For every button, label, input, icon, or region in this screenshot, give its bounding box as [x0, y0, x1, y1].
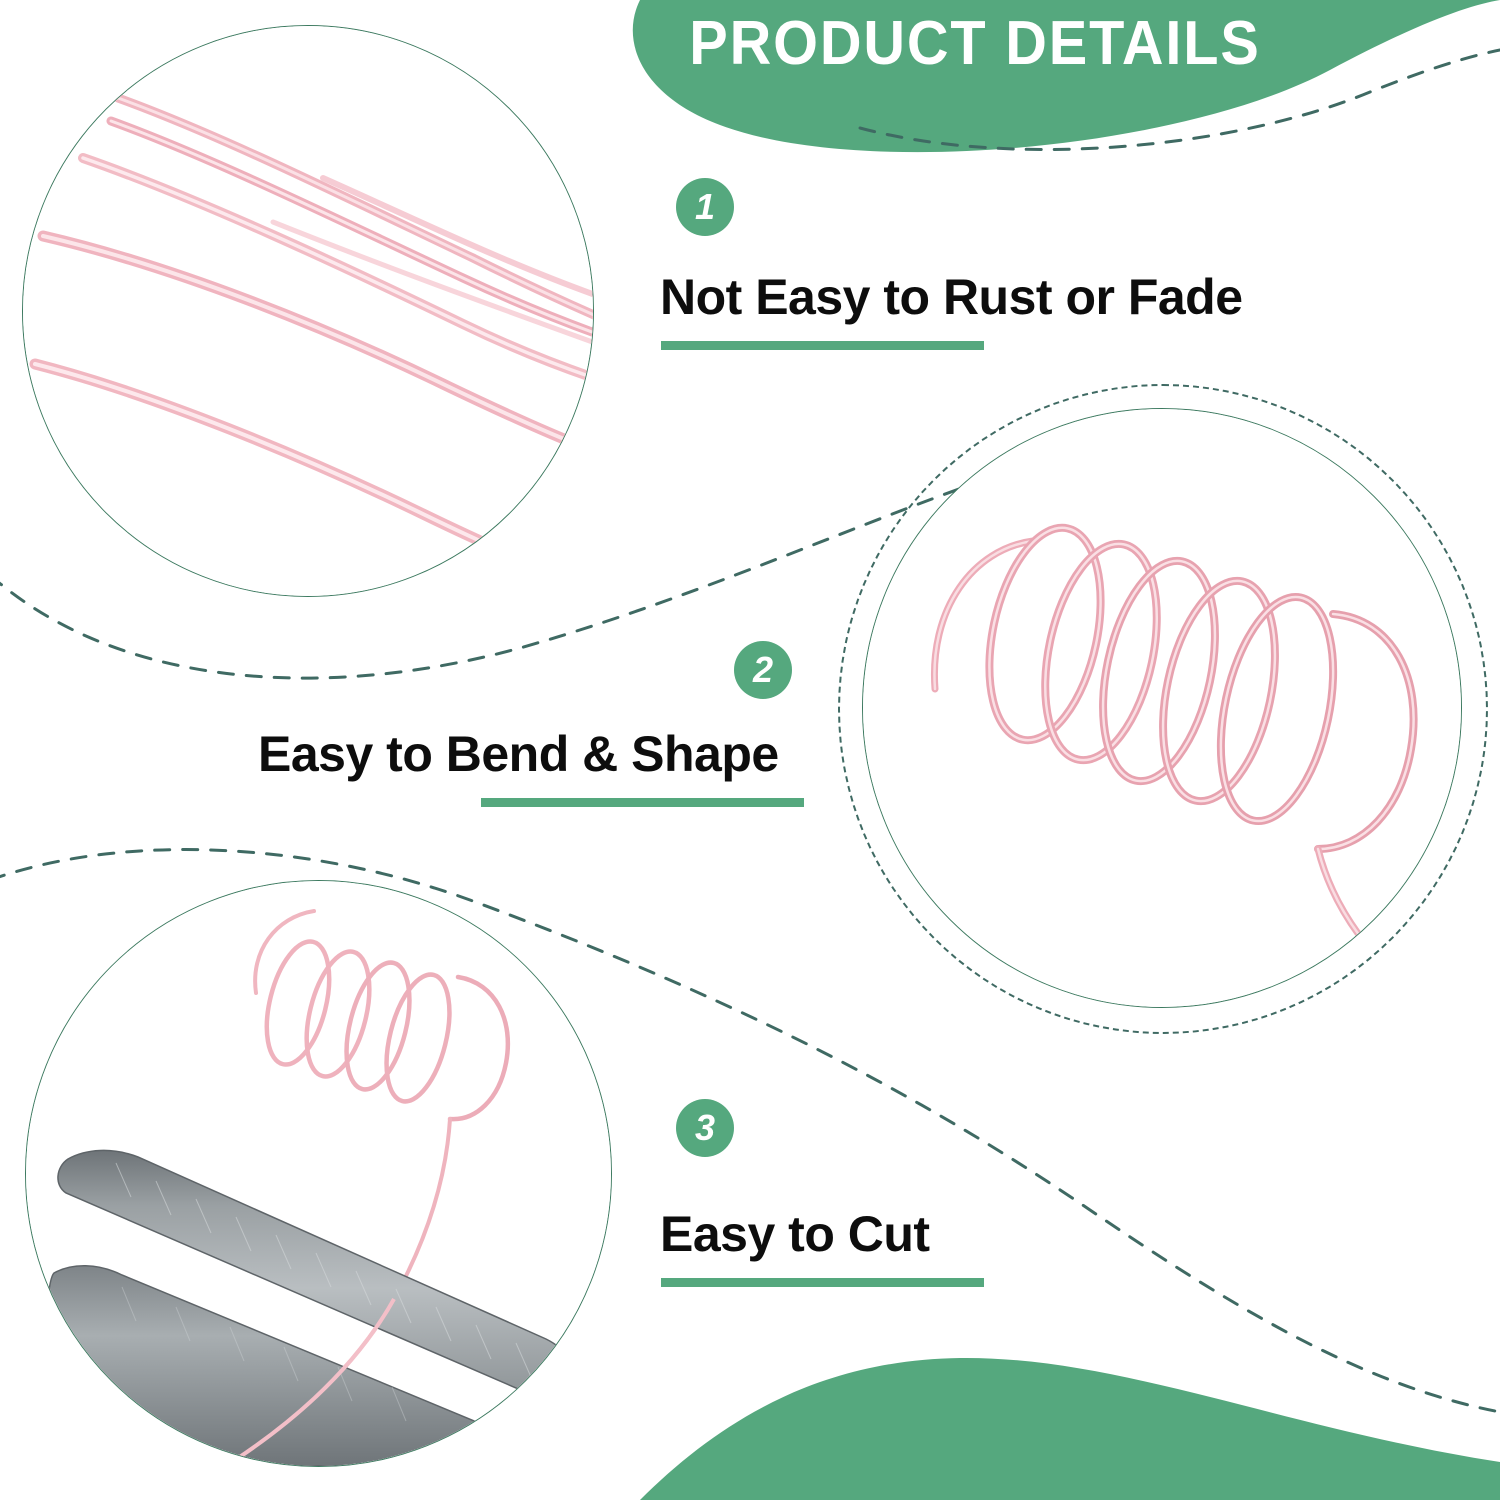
product-details-infographic: PRODUCT DETAILS [0, 0, 1500, 1500]
feature-badge-1: 1 [676, 178, 734, 236]
page-title: PRODUCT DETAILS [668, 8, 1282, 79]
photo-coiled-wire-spring [862, 408, 1462, 1008]
feature-underline-2 [481, 798, 804, 807]
feature-underline-1 [661, 341, 984, 350]
feature-underline-3 [661, 1278, 984, 1287]
bottom-wave-shape [640, 1358, 1500, 1500]
photo-parallel-wire-strands [22, 25, 594, 597]
feature-badge-2: 2 [734, 641, 792, 699]
feature-heading-1: Not Easy to Rust or Fade [660, 268, 1243, 326]
feature-badge-3: 3 [676, 1099, 734, 1157]
feature-heading-2: Easy to Bend & Shape [258, 725, 779, 783]
photo-scissors-cutting-wire [25, 880, 612, 1467]
feature-heading-3: Easy to Cut [660, 1205, 930, 1263]
